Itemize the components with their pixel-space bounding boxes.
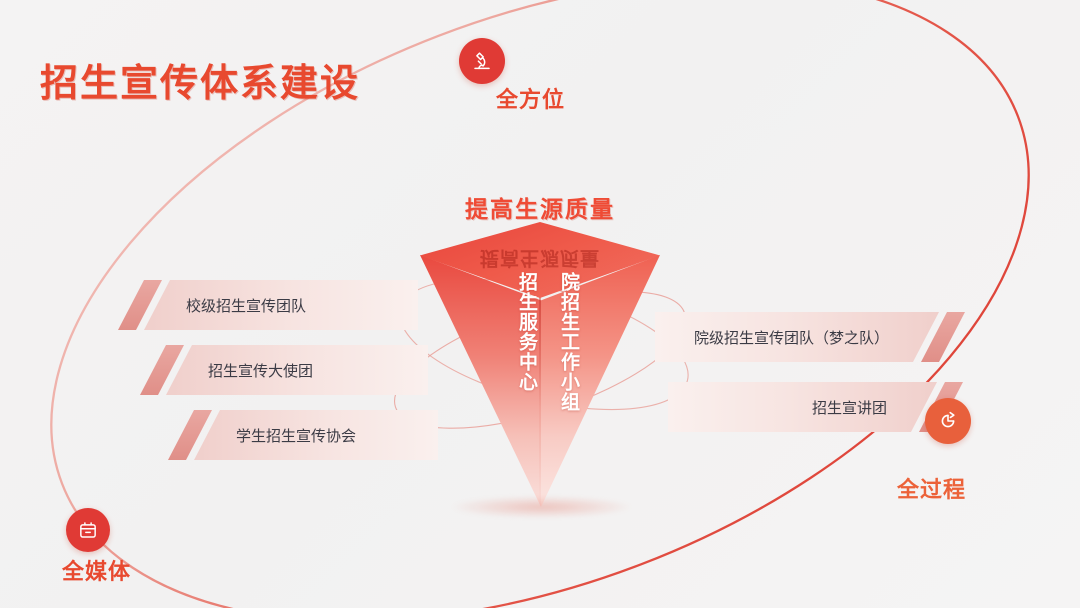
pyramid-ground-shadow (452, 496, 632, 518)
ribbon-item-left-3[interactable]: 学生招生宣传协会 (168, 410, 438, 460)
page-title: 招生宣传体系建设 (40, 52, 360, 107)
pyramid-label-right: 院招生工作小组 (540, 272, 580, 412)
ribbon-label: 招生宣传大使团 (208, 360, 313, 381)
microscope-icon (470, 49, 494, 73)
node-label-bottom-right: 全过程 (897, 472, 966, 504)
pyramid-label-left: 招生服务中心 (498, 272, 538, 392)
ribbon-item-right-1[interactable]: 院级招生宣传团队（梦之队） (655, 312, 965, 362)
ribbon-label: 学生招生宣传协会 (236, 425, 356, 446)
ribbon-label: 院级招生宣传团队（梦之队） (655, 327, 965, 348)
slide-canvas: 招生宣传体系建设 校级招生宣传团队 招生宣传大使团 学生招生宣传协会 院级招生宣… (0, 0, 1080, 608)
ribbon-label: 校级招生宣传团队 (186, 295, 306, 316)
node-marker-bottom-left[interactable] (66, 508, 110, 552)
ribbon-item-left-1[interactable]: 校级招生宣传团队 (118, 280, 418, 330)
ribbon-label: 招生宣讲团 (668, 397, 963, 418)
node-label-top: 全方位 (496, 82, 565, 114)
calendar-icon (77, 519, 99, 541)
ribbon-item-right-2[interactable]: 招生宣讲团 (668, 382, 963, 432)
apex-title: 提高生源质量 (390, 190, 690, 224)
node-marker-top[interactable] (459, 38, 505, 84)
ribbon-item-left-2[interactable]: 招生宣传大使团 (140, 345, 428, 395)
node-label-bottom-left: 全媒体 (62, 554, 131, 586)
